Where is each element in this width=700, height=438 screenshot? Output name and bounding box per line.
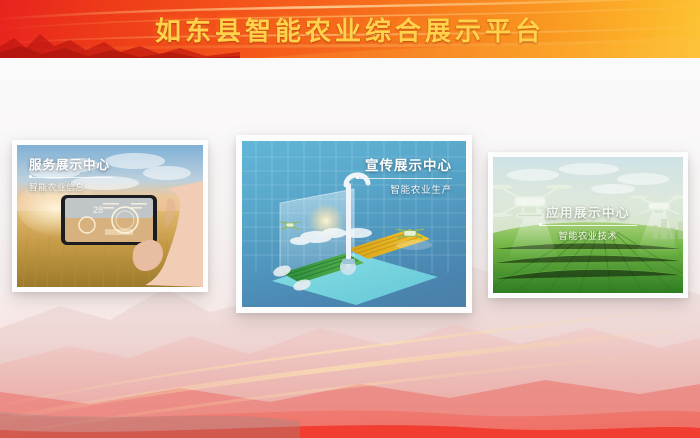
- card-application-divider: [539, 225, 637, 226]
- card-promotion-image: 宣传展示中心 智能农业生产: [242, 141, 466, 307]
- card-service-title: 服务展示中心: [29, 159, 113, 173]
- card-service-divider: [29, 177, 113, 178]
- card-service-display-center[interactable]: 28 服务展示中心 智能农业信息: [12, 140, 208, 292]
- card-promotion-display-center[interactable]: 宣传展示中心 智能农业生产: [236, 135, 472, 313]
- svg-text:28: 28: [93, 205, 103, 215]
- card-promotion-subtitle: 智能农业生产: [356, 182, 452, 196]
- card-promotion-title: 宣传展示中心: [356, 159, 452, 174]
- header-banner: 如东县智能农业综合展示平台: [0, 0, 700, 58]
- card-service-text: 服务展示中心 智能农业信息: [29, 159, 113, 193]
- page-root: 如东县智能农业综合展示平台: [0, 0, 700, 438]
- page-title: 如东县智能农业综合展示平台: [0, 0, 700, 58]
- card-application-subtitle: 智能农业技术: [493, 229, 683, 242]
- card-service-subtitle: 智能农业信息: [29, 181, 113, 193]
- card-service-image: 28 服务展示中心 智能农业信息: [17, 145, 203, 287]
- card-promotion-text: 宣传展示中心 智能农业生产: [356, 159, 452, 196]
- card-application-display-center[interactable]: 应用展示中心 智能农业技术: [488, 152, 688, 298]
- card-application-title: 应用展示中心: [493, 207, 683, 221]
- divider-dot: [29, 175, 32, 178]
- card-application-image: 应用展示中心 智能农业技术: [493, 157, 683, 293]
- divider-dot: [356, 176, 359, 179]
- card-promotion-divider: [356, 178, 452, 179]
- divider-dot: [539, 223, 542, 226]
- card-application-text: 应用展示中心 智能农业技术: [493, 207, 683, 242]
